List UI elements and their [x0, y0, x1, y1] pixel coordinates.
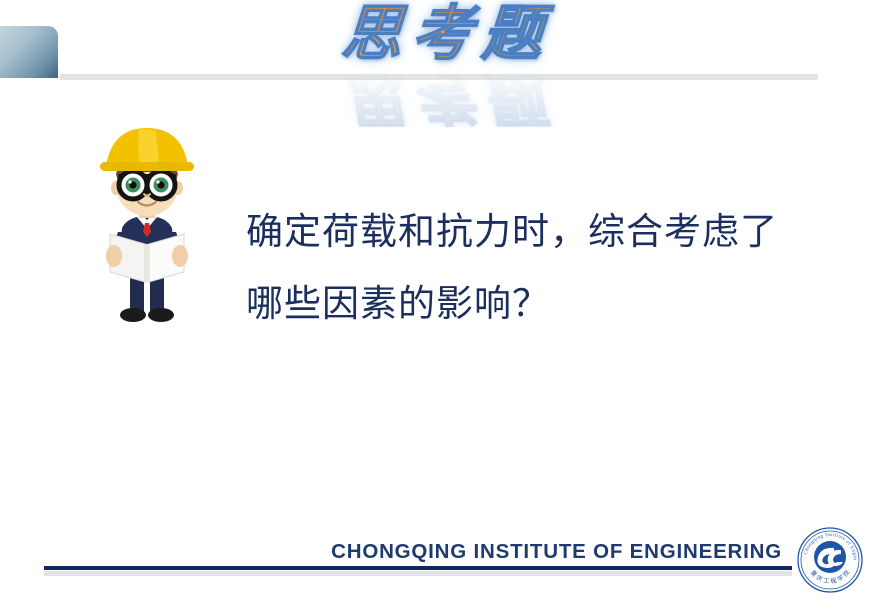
mascot-shoe-left: [120, 308, 146, 322]
mascot-hand-left: [106, 245, 122, 267]
mascot-eye-highlight-left: [128, 180, 131, 183]
mascot-eye-highlight-right: [156, 180, 159, 183]
mascot-hand-right: [172, 245, 188, 267]
footer-rule-gray: [44, 571, 792, 576]
header-corner-block: [0, 26, 58, 78]
question-line-1: 确定荷载和抗力时，综合考虑了: [246, 196, 846, 268]
institution-logo-icon: Chongqing Institute of Engineering 重庆工程学…: [796, 526, 864, 594]
mascot-blueprint-spine: [145, 244, 149, 282]
header-divider-bar: [60, 74, 818, 80]
question-text: 确定荷载和抗力时，综合考虑了 哪些因素的影响？: [246, 196, 846, 340]
slide-title-group: 思考题 思考题: [0, 4, 894, 65]
footer-institution-name: CHONGQING INSTITUTE OF ENGINEERING: [0, 540, 790, 564]
mascot-hard-hat-ridge: [138, 129, 159, 164]
footer-rule-navy: [44, 566, 792, 570]
engineer-mascot-icon: [88, 124, 206, 328]
mascot-hard-hat-brim: [100, 162, 194, 171]
slide-title: 思考题: [340, 4, 554, 65]
slide-canvas: 思考题 思考题: [0, 0, 894, 613]
question-line-2: 哪些因素的影响？: [246, 268, 846, 340]
mascot-shoe-right: [148, 308, 174, 322]
